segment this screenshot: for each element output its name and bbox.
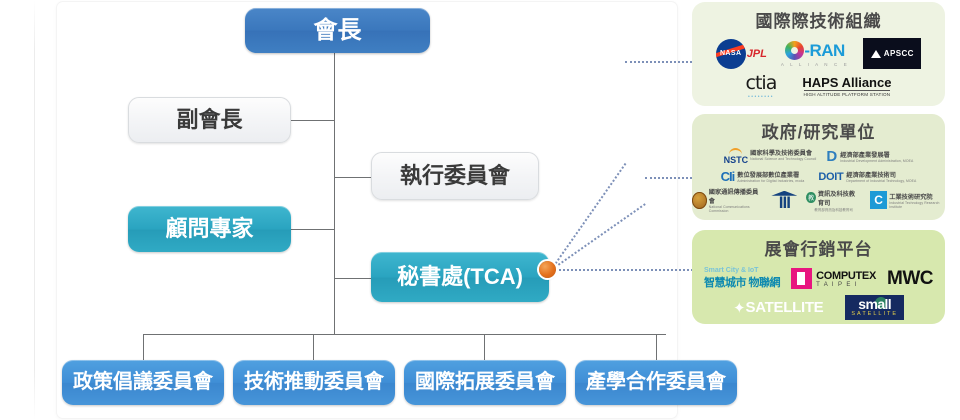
dotted-link-top-horizontal [625,61,700,63]
adi-english-name: Administration for Digital Industries, m… [737,179,804,183]
node-committee-industry-academia-label: 產學合作委員會 [586,372,726,393]
ncc-logo: 國家通訊傳播委員會 National Communications Commis… [692,187,762,213]
nasa-wordmark: NASA [720,50,741,57]
panel-exhibition-marketing-title: 展會行銷平台 [692,230,945,260]
trunk-line-vertical [334,52,335,334]
node-committee-technology[interactable]: 技術推動委員會 [233,360,395,405]
node-committee-technology-label: 技術推動委員會 [244,372,384,393]
small-satellite-logo: small SATELLITE [845,295,904,320]
panel-international-tech-orgs[interactable]: 國際際技術組織 NASA JPL -RAN A L L I A N C E AP… [692,2,945,106]
oran-alliance-logo: -RAN A L L I A N C E [781,41,849,67]
node-secretariat-label: 秘書處(TCA) [397,265,523,288]
branch-line-exec-committee [334,177,372,178]
nstc-wordmark: NSTC [724,155,749,165]
haps-alliance-logo: HAPS Alliance HIGH ALTITUDE PLATFORM STA… [802,75,891,97]
panel-government-research-title: 政府/研究單位 [692,114,945,143]
computex-taipei-subtext: T A I P E I [816,282,876,288]
doit-chinese-name: 經濟部產業技術司 [846,170,916,179]
iii-roof-icon [771,191,797,196]
ctia-logo: ctia •••••••• [746,72,777,100]
ncc-seal-icon [692,192,707,209]
iii-wordmark: III [779,196,790,210]
committee-bus-line [143,334,666,335]
node-executive-committee[interactable]: 執行委員會 [371,152,539,200]
haps-wordmark: HAPS Alliance [802,75,891,90]
branch-line-secretariat [334,278,372,279]
committee-drop-3 [484,334,485,360]
node-vice-chairman-label: 副會長 [176,108,242,131]
panel-international-tech-orgs-title: 國際際技術組織 [692,2,945,32]
itri-chinese-name: 工業技術研究院 [889,192,945,201]
node-advisory-experts[interactable]: 顧問專家 [128,206,291,252]
moe-emblem-icon: 教 [806,192,816,203]
panel-exhibition-marketing[interactable]: 展會行銷平台 Smart City & IoT 智慧城市 物聯網 COMPUTE… [692,230,945,324]
ida-logo: D 經濟部產業發展署 Industrial Development Admini… [826,148,913,165]
doit-english-name: Department of Industrial Technology, MOE… [846,179,916,183]
nstc-chinese-name: 國家科學及技術委員會 [750,148,816,157]
branch-line-vice-chair [290,120,335,121]
satellite-logo: ✦ SATELLITE [733,299,823,317]
apscc-logo: APSCC [863,38,921,69]
committee-drop-2 [313,334,314,360]
moe-tech-edu-chinese-name: 資訊及科技教育司 [818,189,861,207]
node-vice-chairman[interactable]: 副會長 [128,97,291,143]
oran-wordmark: -RAN [804,41,845,61]
nasa-jpl-logo: NASA JPL [716,39,767,69]
oran-alliance-subtext: A L L I A N C E [781,62,849,67]
adi-chinese-name: 數位發展部數位產業署 [737,170,804,179]
iii-logo: III [771,191,797,210]
node-committee-international-label: 國際拓展委員會 [415,372,555,393]
jpl-wordmark: JPL [747,48,767,60]
itri-mark-icon: C [870,191,887,209]
node-chairman-label: 會長 [314,18,362,43]
apscc-triangle-icon [871,50,881,58]
nstc-logo: NSTC 國家科學及技術委員會 National Science and Tec… [724,148,817,165]
itri-logo: C 工業技術研究院 Industrial Technology Research… [870,191,945,209]
ncc-english-name: National Communications Commission [709,205,763,213]
doit-logo: DOIT 經濟部產業技術司 Department of Industrial T… [818,170,916,183]
ida-mark-icon: D [826,148,836,165]
adi-mark-icon: CIi [721,169,735,184]
smart-city-iot-logo: Smart City & IoT 智慧城市 物聯網 [704,267,780,290]
branch-line-advisors [290,229,335,230]
computex-square-icon [791,268,812,289]
node-chairman[interactable]: 會長 [245,8,430,53]
committee-drop-4 [656,334,657,360]
ida-english-name: Industrial Development Administration, M… [840,159,913,163]
small-satellite-wordmark: small [858,297,891,311]
mwc-logo: MWC [887,268,933,290]
panel-government-research[interactable]: 政府/研究單位 NSTC 國家科學及技術委員會 National Science… [692,114,945,220]
doit-wordmark: DOIT [818,171,843,183]
satellite-bird-icon: ✦ [733,299,746,317]
apscc-wordmark: APSCC [884,49,914,58]
ctia-dots-icon: •••••••• [748,94,774,100]
ida-chinese-name: 經濟部產業發展署 [840,150,913,159]
mwc-wordmark: MWC [887,268,933,290]
node-committee-policy[interactable]: 政策倡議委員會 [62,360,224,405]
secretariat-hub-dot[interactable] [539,261,556,278]
page-left-edge [34,0,35,420]
ncc-chinese-name: 國家通訊傳播委員會 [709,187,763,205]
nstc-english-name: National Science and Technology Council [750,157,816,161]
moe-tech-edu-english-name: 教育部資訊及科技教育司 [814,207,852,212]
node-secretariat[interactable]: 秘書處(TCA) [371,252,549,302]
ctia-wordmark: ctia [746,72,777,94]
computex-wordmark: COMPUTEX [816,270,876,282]
itri-english-name: Industrial Technology Research Institute [889,201,945,209]
node-committee-policy-label: 政策倡議委員會 [73,372,213,393]
smart-city-english-name: Smart City & IoT [704,267,758,274]
org-chart-slide: 會長 副會長 執行委員會 顧問專家 秘書處(TCA) 政策倡議委員會 技術推動委… [0,0,960,420]
committee-drop-1 [143,334,144,360]
dotted-link-to-exhibition [551,269,701,271]
smart-city-chinese-name: 智慧城市 物聯網 [704,274,780,290]
node-advisory-experts-label: 顧問專家 [165,217,253,240]
node-committee-industry-academia[interactable]: 產學合作委員會 [575,360,737,405]
satellite-wordmark: SATELLITE [746,299,824,316]
oran-ring-icon [785,41,804,60]
node-executive-committee-label: 執行委員會 [400,164,510,187]
haps-subtext: HIGH ALTITUDE PLATFORM STATION [804,90,891,97]
adi-logo: CIi 數位發展部數位產業署 Administration for Digita… [721,169,805,184]
node-committee-international[interactable]: 國際拓展委員會 [404,360,566,405]
computex-taipei-logo: COMPUTEX T A I P E I [791,268,876,289]
moe-tech-edu-logo: 教 資訊及科技教育司 教育部資訊及科技教育司 [806,189,861,212]
